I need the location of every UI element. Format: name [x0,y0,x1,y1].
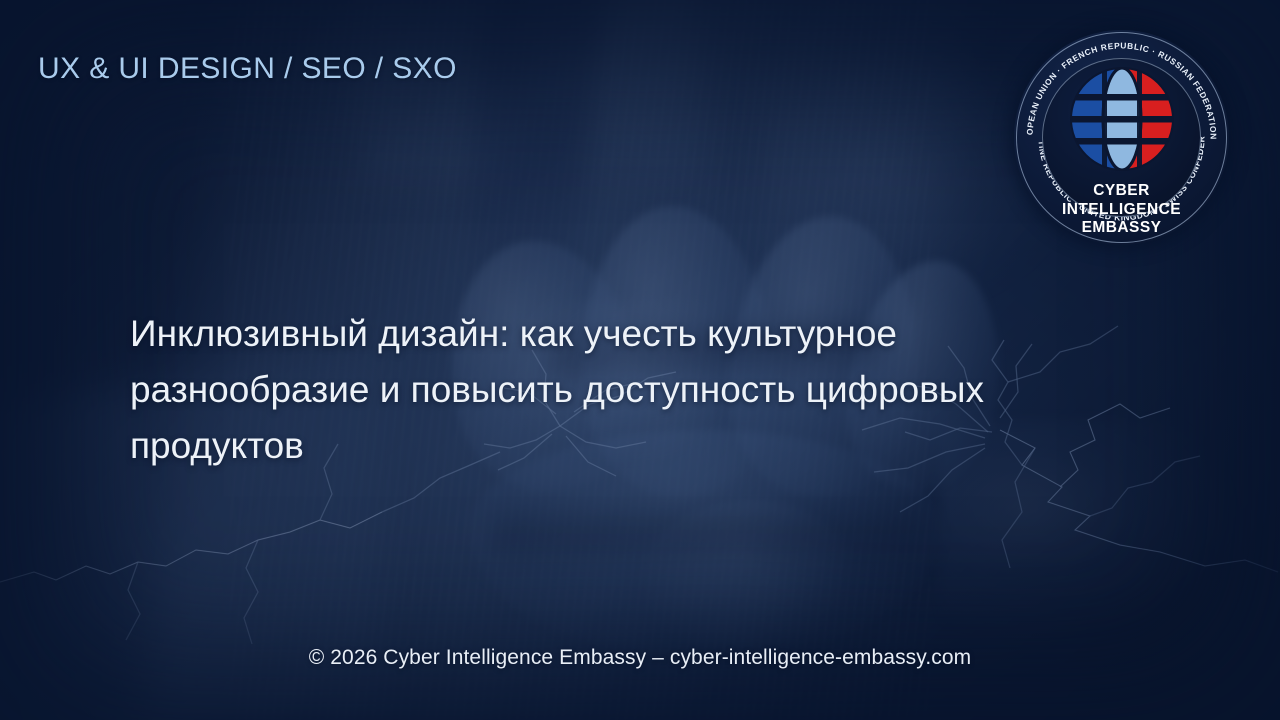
wordmark-line-2: INTELLIGENCE [1014,201,1229,220]
logo-wordmark: CYBER INTELLIGENCE EMBASSY [1014,182,1229,238]
page-title: Инклюзивный дизайн: как учесть культурно… [130,306,1120,474]
logo-seal[interactable]: UNITED STATES OF AMERICA · EUROPEAN UNIO… [1014,30,1229,245]
wordmark-line-3: EMBASSY [1014,219,1229,238]
headline-line-3: продуктов [130,418,1120,474]
footer-copyright: © 2026 Cyber Intelligence Embassy – cybe… [0,646,1280,670]
headline-line-1: Инклюзивный дизайн: как учесть культурно… [130,306,1120,362]
globe-icon [1069,66,1175,172]
wordmark-line-1: CYBER [1014,182,1229,201]
slide-canvas: UX & UI DESIGN / SEO / SXO Инклюзивный д… [0,0,1280,720]
kicker-text: UX & UI DESIGN / SEO / SXO [38,52,457,86]
headline-line-2: разнообразие и повысить доступность цифр… [130,362,1120,418]
